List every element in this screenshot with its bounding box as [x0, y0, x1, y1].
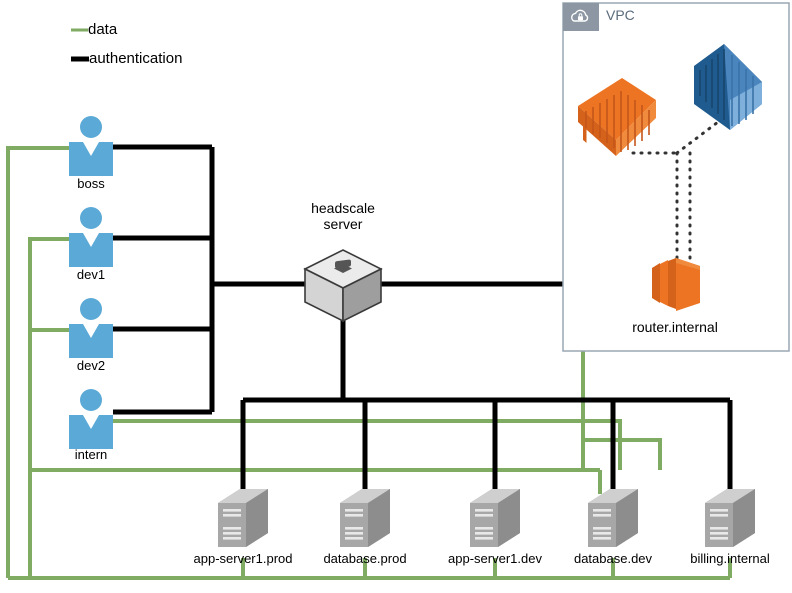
router-internal-label: router.internal	[632, 319, 718, 335]
user-icons	[69, 116, 113, 449]
server-icon-app-server1-prod	[218, 489, 268, 547]
headscale-label-line2: server	[311, 216, 375, 232]
headscale-server-label: headscale server	[311, 200, 375, 232]
network-diagram-svg	[0, 0, 792, 593]
legend-label-data: data	[88, 21, 117, 38]
server-icon-database-dev	[588, 489, 638, 547]
server-label-database-dev: database.dev	[574, 551, 652, 566]
headscale-server-icon	[305, 250, 381, 321]
server-label-database-prod: database.prod	[323, 551, 406, 566]
user-icon-boss	[69, 116, 113, 176]
data-link-boss	[8, 148, 69, 578]
user-icon-dev2	[69, 298, 113, 358]
server-icons	[218, 489, 755, 547]
vpc-title: VPC	[606, 7, 635, 23]
diagram-canvas: data authentication VPC boss dev1 dev2 i…	[0, 0, 792, 593]
server-label-app-server1-dev: app-server1.dev	[448, 551, 542, 566]
user-label-boss: boss	[77, 176, 104, 191]
user-label-intern: intern	[75, 447, 108, 462]
server-label-app-server1-prod: app-server1.prod	[194, 551, 293, 566]
server-label-billing-internal: billing.internal	[690, 551, 770, 566]
legend-swatches	[71, 30, 89, 59]
user-label-dev2: dev2	[77, 358, 105, 373]
headscale-label-line1: headscale	[311, 200, 375, 216]
user-icon-intern	[69, 389, 113, 449]
server-icon-database-prod	[340, 489, 390, 547]
user-icon-dev1	[69, 207, 113, 267]
legend-label-authentication: authentication	[89, 50, 182, 67]
server-icon-app-server1-dev	[470, 489, 520, 547]
data-link-dev1	[30, 239, 69, 578]
user-label-dev1: dev1	[77, 267, 105, 282]
server-icon-billing-internal	[705, 489, 755, 547]
